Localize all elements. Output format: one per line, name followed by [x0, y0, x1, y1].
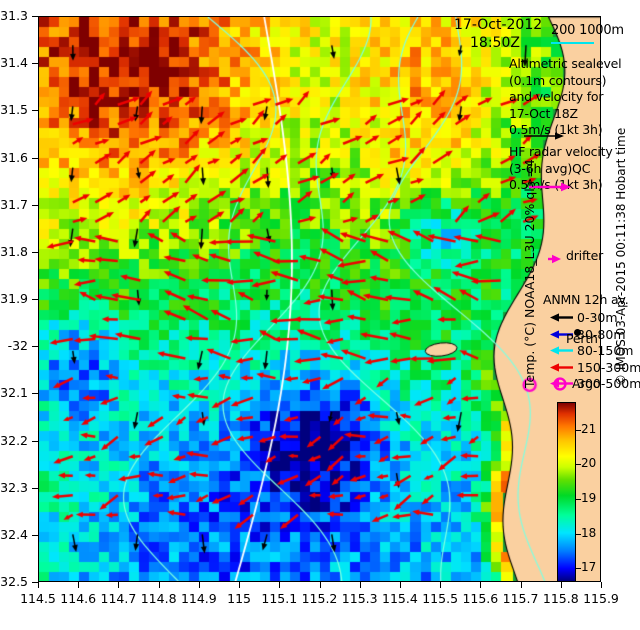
y-axis-tick [32, 441, 38, 442]
colorbar-tick-label: 18 [581, 526, 596, 540]
y-axis-tick [32, 582, 38, 583]
x-axis-tick [199, 582, 200, 588]
altimetric-legend-line: and velocity for [509, 90, 603, 104]
y-axis-tick [32, 16, 38, 17]
y-axis-tick-label: -31.6 [0, 150, 28, 165]
x-axis-tick [400, 582, 401, 588]
y-axis-tick [32, 299, 38, 300]
x-axis-tick [279, 582, 280, 588]
anmn-legend-label: 150-300m [577, 360, 640, 375]
x-axis-tick [480, 582, 481, 588]
x-axis-tick [239, 582, 240, 588]
x-axis-tick [38, 582, 39, 588]
y-axis-tick [32, 346, 38, 347]
colorbar-title: Temp. (°C) NOAA18_L3U 20% ql>=4 [522, 178, 537, 388]
x-axis-tick [320, 582, 321, 588]
y-axis-tick-label: -32.2 [0, 433, 28, 448]
y-axis-tick [32, 535, 38, 536]
y-axis-tick-label: -32.1 [0, 385, 28, 400]
colorbar-tick-label: 19 [581, 491, 596, 505]
x-axis-tick [521, 582, 522, 588]
y-axis-tick [32, 252, 38, 253]
y-axis-tick [32, 63, 38, 64]
y-axis-tick-label: -32 [0, 338, 28, 353]
y-axis-tick [32, 205, 38, 206]
y-axis-tick-label: -31.8 [0, 244, 28, 259]
colorbar-tick-label: 17 [581, 560, 596, 574]
x-axis-tick [159, 582, 160, 588]
x-axis-tick [561, 582, 562, 588]
argo-label: Argo [572, 377, 600, 391]
colorbar-tick-label: 20 [581, 456, 596, 470]
y-axis-tick-label: -31.9 [0, 291, 28, 306]
altimetric-legend-line: (0.1m contours) [509, 74, 606, 88]
x-axis-tick [118, 582, 119, 588]
hfradar-legend-line: HF radar velocity [509, 145, 613, 159]
scalebar-line [551, 42, 594, 44]
altimetric-legend-line: Altimetric sealevel [509, 57, 621, 71]
map-date-label: 17-Oct-2012 [454, 17, 542, 33]
y-axis-tick [32, 393, 38, 394]
x-axis-tick [78, 582, 79, 588]
y-axis-tick-label: -32.4 [0, 527, 28, 542]
colorbar-tick-label: 21 [581, 422, 596, 436]
x-axis-tick [360, 582, 361, 588]
y-axis-tick-label: -31.3 [0, 8, 28, 23]
y-axis-tick-label: -31.7 [0, 197, 28, 212]
y-axis-tick [32, 110, 38, 111]
map-time-label: 18:50Z [470, 35, 520, 51]
argo-marker-icon [552, 376, 568, 396]
y-axis-tick-label: -31.4 [0, 55, 28, 70]
drifter-marker-icon [548, 250, 562, 269]
x-axis-tick [440, 582, 441, 588]
altimetric-legend-line: 17-Oct 18Z [509, 107, 578, 121]
y-axis-tick-label: -32.3 [0, 480, 28, 495]
scalebar-label: 200 1000m [551, 24, 624, 38]
x-axis-tick-label: 115.9 [571, 591, 631, 606]
perth-label: Perth [566, 332, 598, 346]
drifter-label: drifter [566, 249, 603, 263]
anmn-legend-label: 0-30m [577, 310, 618, 325]
temperature-colorbar[interactable] [557, 402, 576, 582]
copyright-label: © IMOS 03-Apr-2015 00:11:38 Hobart time [614, 156, 628, 386]
y-axis-tick-label: -32.5 [0, 574, 28, 589]
x-axis-tick [601, 582, 602, 588]
y-axis-tick-label: -31.5 [0, 102, 28, 117]
anmn-legend-item: 0-30m [550, 309, 618, 325]
y-axis-tick [32, 488, 38, 489]
y-axis-tick [32, 158, 38, 159]
